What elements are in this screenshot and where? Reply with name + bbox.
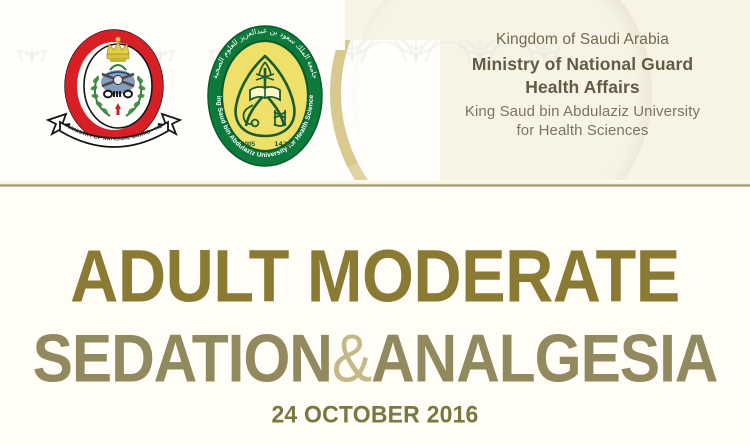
- king-saud-bin-abdulaziz-university-for-health-sciences-logo: جامعة الملك سعود بن عبدالعزيز للعلوم الص…: [198, 22, 332, 170]
- poster-title-ampersand: &: [332, 321, 371, 397]
- open-book-icon: [250, 87, 280, 100]
- header-line-ministry: Ministry of National Guard: [430, 53, 735, 76]
- poster-title-line-1: ADULT MODERATE: [0, 240, 750, 314]
- header-line-kingdom: Kingdom of Saudi Arabia: [430, 30, 735, 50]
- ksau-year-left: 2005: [241, 141, 256, 148]
- poster-title-analgesia: ANALGESIA: [371, 321, 717, 397]
- poster-header: MINISTRY OF NATIONAL GUARD - HEALTH AFFA…: [0, 0, 750, 185]
- poster-event-date: 24 OCTOBER 2016: [0, 400, 750, 428]
- poster-title-sedation: SEDATION: [33, 321, 332, 397]
- header-line-health-sciences: for Health Sciences: [430, 121, 735, 141]
- header-line-university: King Saud bin Abdulaziz University: [430, 102, 735, 122]
- header-org-text-block: Kingdom of Saudi Arabia Ministry of Nati…: [430, 30, 735, 141]
- ministry-of-national-guard-health-affairs-logo: MINISTRY OF NATIONAL GUARD - HEALTH AFFA…: [44, 24, 184, 166]
- poster-root: MINISTRY OF NATIONAL GUARD - HEALTH AFFA…: [0, 0, 750, 445]
- poster-title-line-2: SEDATION&ANALGESIA: [0, 326, 750, 393]
- ksau-year-right: 1426: [274, 140, 292, 148]
- header-divider-rule: [0, 184, 750, 187]
- poster-main: ADULT MODERATE SEDATION&ANALGESIA 24 OCT…: [0, 188, 750, 445]
- header-line-health-affairs: Health Affairs: [430, 76, 735, 99]
